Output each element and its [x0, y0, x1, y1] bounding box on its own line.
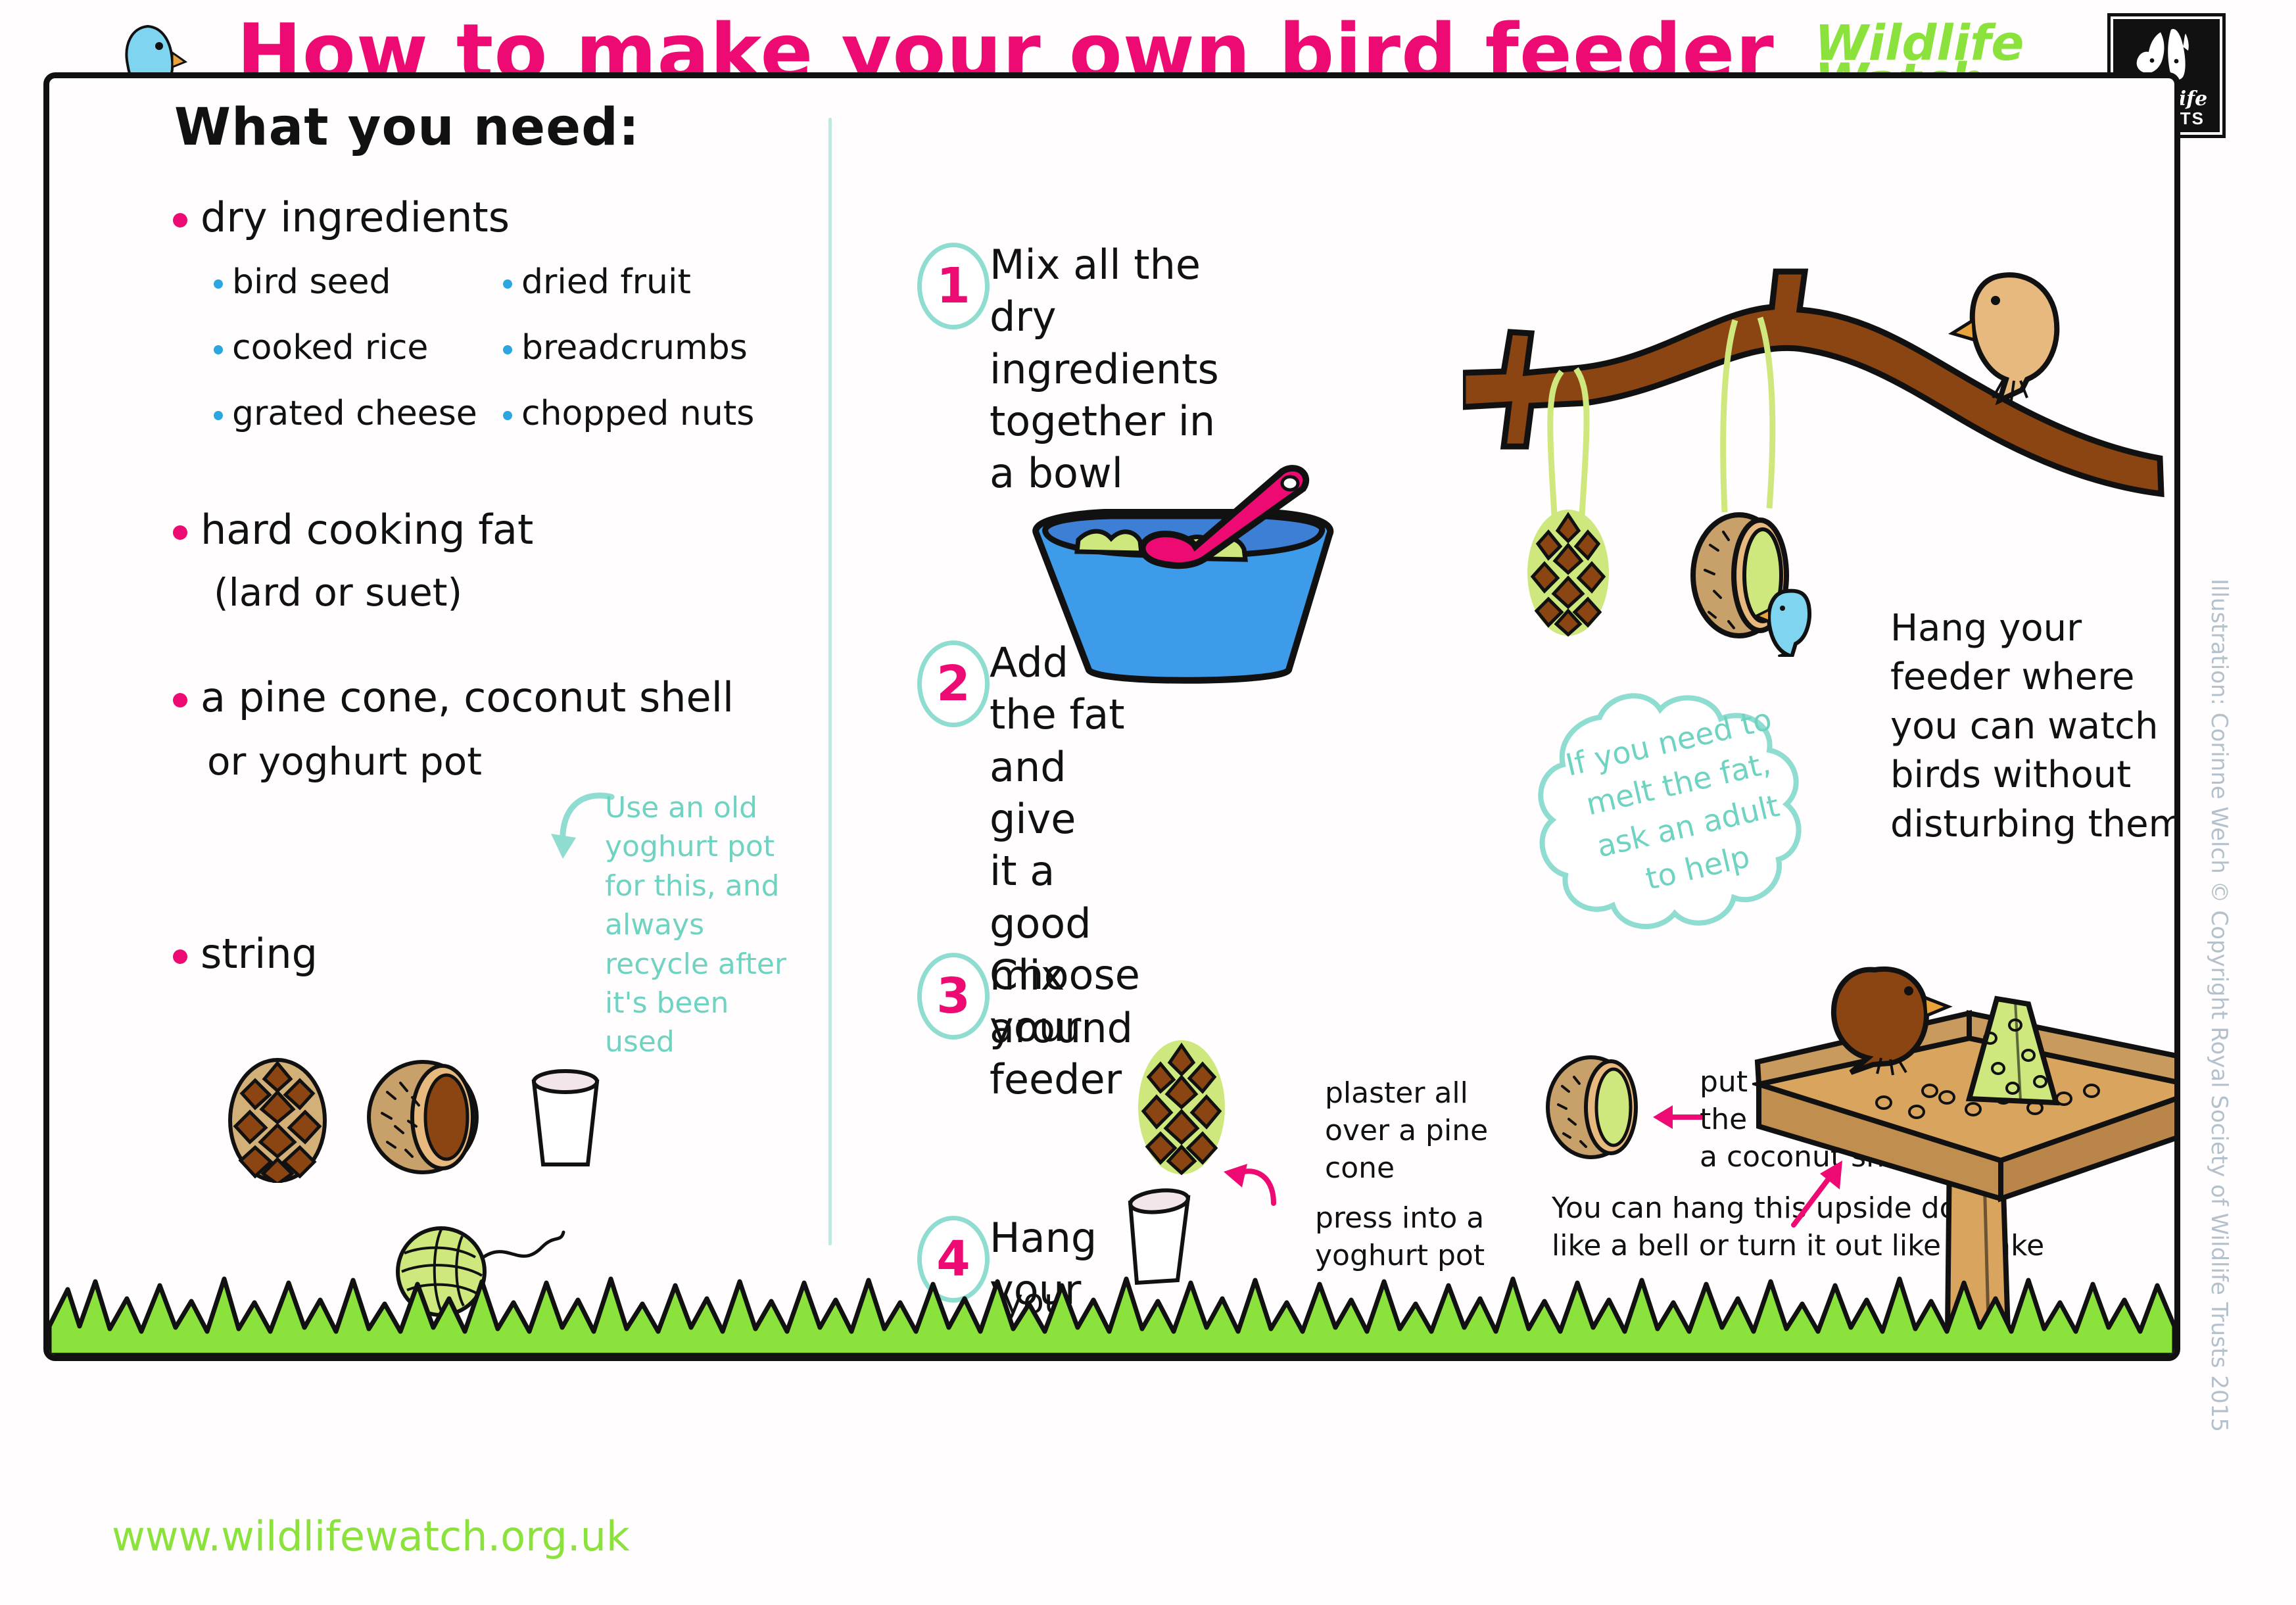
- bullet-icon: [173, 693, 187, 707]
- sub-item-cooked-rice: cooked rice: [214, 328, 428, 368]
- bullet-icon: [214, 345, 223, 354]
- coconut-shell-illustration: [365, 1058, 487, 1176]
- sub-item-grated-cheese: grated cheese: [214, 394, 477, 433]
- step-number-badge: 3: [917, 953, 990, 1040]
- step-text: Choose your feeder: [990, 949, 1140, 1105]
- bullet-icon: [503, 279, 512, 289]
- curved-arrow-left-icon: [1220, 1160, 1279, 1212]
- bullet-icon: [173, 525, 187, 540]
- bullet-icon: [173, 949, 187, 964]
- bullet-icon: [214, 411, 223, 420]
- hang-feeder-note: Hang your feeder where you can watch bir…: [1890, 604, 2180, 849]
- sub-item-chopped-nuts: chopped nuts: [503, 394, 754, 433]
- sub-item-label: breadcrumbs: [521, 328, 748, 368]
- step-number-badge: 2: [917, 640, 990, 727]
- material-item-container-note: or yoghurt pot: [207, 739, 482, 784]
- sub-item-label: chopped nuts: [521, 394, 754, 433]
- material-item-cooking-fat-note: (lard or suet): [214, 570, 462, 615]
- pine-cone-illustration: [217, 1051, 339, 1183]
- material-label: string: [201, 930, 318, 978]
- sub-item-breadcrumbs: breadcrumbs: [503, 328, 748, 368]
- bullet-icon: [173, 213, 187, 228]
- material-label: hard cooking fat: [201, 506, 533, 554]
- sub-item-label: dried fruit: [521, 262, 691, 302]
- bullet-icon: [214, 279, 223, 289]
- sub-item-label: grated cheese: [232, 394, 477, 433]
- material-item-container: a pine cone, coconut shell: [173, 673, 734, 721]
- materials-heading: What you need:: [174, 98, 640, 157]
- pine-cone-option-illustration: [1128, 1035, 1236, 1176]
- sub-item-bird-seed: bird seed: [214, 262, 391, 302]
- yoghurt-pot-illustration: [519, 1065, 611, 1176]
- main-content-panel: What you need: dry ingredients bird seed…: [43, 72, 2180, 1361]
- yoghurt-pot-tip: Use an old yoghurt pot for this, and alw…: [605, 788, 802, 1062]
- copyright-credit: Illustration: Corinne Welch © Copyright …: [2206, 579, 2232, 1236]
- material-label: a pine cone, coconut shell: [201, 673, 734, 721]
- material-item-dry-ingredients: dry ingredients: [173, 193, 510, 241]
- website-url[interactable]: www.wildlifewatch.org.uk: [112, 1512, 630, 1560]
- pine-cone-option-note: plaster all over a pine cone: [1325, 1074, 1488, 1187]
- step-number-badge: 1: [917, 243, 990, 329]
- sub-item-label: cooked rice: [232, 328, 428, 368]
- grass-decoration: [49, 1263, 2174, 1355]
- bullet-icon: [503, 411, 512, 420]
- material-label: dry ingredients: [201, 193, 510, 241]
- material-item-string: string: [173, 930, 318, 978]
- material-item-cooking-fat: hard cooking fat: [173, 506, 533, 554]
- branch-with-feeders-illustration: [1463, 249, 2180, 657]
- sub-item-dried-fruit: dried fruit: [503, 262, 691, 302]
- arrow-left-icon: [1650, 1097, 1703, 1137]
- arrow-up-right-icon: [1788, 1157, 1848, 1229]
- sub-item-label: bird seed: [232, 262, 391, 302]
- coconut-option-illustration: [1545, 1055, 1644, 1160]
- bullet-icon: [503, 345, 512, 354]
- column-divider: [828, 118, 832, 1245]
